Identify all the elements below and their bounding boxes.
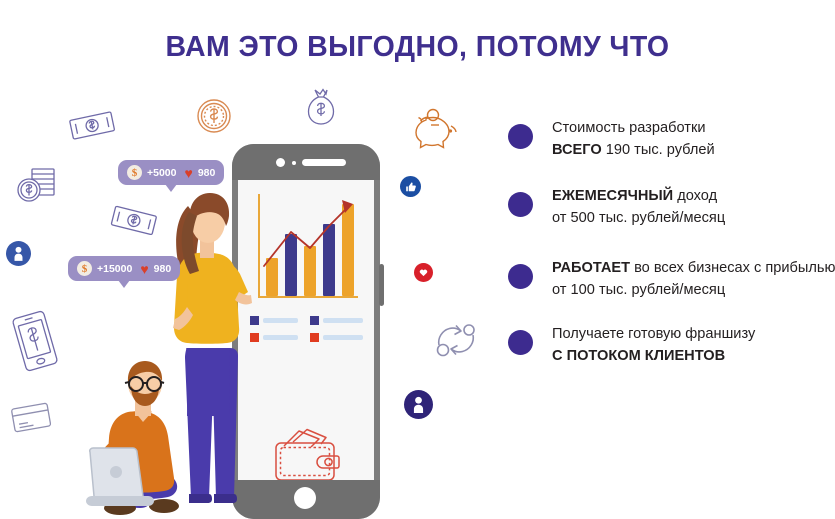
banknote-icon xyxy=(68,110,116,140)
slide-root: ВАМ ЭТО ВЫГОДНО, ПОТОМУ ЧТО xyxy=(0,0,835,467)
phone-dollar-icon xyxy=(10,310,60,372)
exchange-arrows-icon xyxy=(432,318,480,362)
list-placeholder-bar xyxy=(323,335,363,340)
thumbs-up-icon xyxy=(400,176,421,197)
benefit-line: Получаете готовую франшизу xyxy=(552,326,755,342)
notification-likes: 980 xyxy=(198,167,216,179)
heart-icon xyxy=(414,263,433,282)
benefit-text: Стоимость разработки ВСЕГО 190 тыс. рубл… xyxy=(552,118,715,161)
benefit-emphasis: ВСЕГО xyxy=(552,142,602,158)
list-marker xyxy=(310,333,319,342)
benefit-text: РАБОТАЕТ во всех бизнесах с прибылью от … xyxy=(552,258,835,301)
benefit-text: Получаете готовую франшизу С ПОТОКОМ КЛИ… xyxy=(552,324,755,367)
phone-notch xyxy=(232,144,380,180)
page-title: ВАМ ЭТО ВЫГОДНО, ПОТОМУ ЧТО xyxy=(0,31,835,64)
notification-likes: 980 xyxy=(154,263,172,275)
list-placeholder-bar xyxy=(263,335,298,340)
list-item xyxy=(250,333,366,342)
benefit-line: 190 тыс. рублей xyxy=(602,142,715,158)
benefit-emphasis: РАБОТАЕТ xyxy=(552,260,630,276)
benefit-line: Стоимость разработки xyxy=(552,120,705,136)
notification-bubble: $ +5000 ♥ 980 xyxy=(118,160,224,185)
dollar-coin-icon: $ xyxy=(127,165,142,180)
bullet-dot-icon xyxy=(508,330,533,355)
phone-speaker-icon xyxy=(302,159,346,166)
phone-screen xyxy=(238,180,374,480)
bullet-dot-icon xyxy=(508,192,533,217)
banknote-icon xyxy=(110,205,158,235)
man-with-laptop xyxy=(78,360,198,518)
illustration-stage: $ +5000 ♥ 980 $ +15000 ♥ 980 xyxy=(0,70,508,467)
wallet-icon xyxy=(271,426,343,484)
money-bag-icon xyxy=(303,87,339,127)
list-placeholder-bar xyxy=(263,318,298,323)
user-avatar-icon xyxy=(404,390,433,419)
phone-sensor-icon xyxy=(292,161,296,165)
smartphone-mockup xyxy=(232,144,380,519)
heart-icon: ♥ xyxy=(185,166,193,180)
benefit-line: от 500 тыс. рублей/месяц xyxy=(552,210,725,226)
piggy-bank-icon xyxy=(409,106,463,150)
phone-list-rows xyxy=(250,316,366,350)
list-item: Стоимость разработки ВСЕГО 190 тыс. рубл… xyxy=(508,118,715,161)
benefit-line: во всех бизнесах с прибылью xyxy=(630,260,835,276)
heart-icon: ♥ xyxy=(140,262,148,276)
list-item: ЕЖЕМЕСЯЧНЫЙ доход от 500 тыс. рублей/мес… xyxy=(508,186,725,229)
dollar-coin-icon xyxy=(196,98,232,134)
list-item: Получаете готовую франшизу С ПОТОКОМ КЛИ… xyxy=(508,324,755,367)
notification-amount: +5000 xyxy=(147,167,177,179)
benefit-emphasis: ЕЖЕМЕСЯЧНЫЙ xyxy=(552,188,673,204)
user-avatar-icon xyxy=(6,241,31,266)
bubble-tail xyxy=(118,280,130,288)
phone-bottom-bezel xyxy=(232,480,380,519)
growth-bar-chart xyxy=(250,190,362,308)
list-placeholder-bar xyxy=(323,318,363,323)
list-marker xyxy=(310,316,319,325)
benefit-line: от 100 тыс. рублей/месяц xyxy=(552,282,725,298)
phone-home-button xyxy=(294,487,316,509)
list-item: РАБОТАЕТ во всех бизнесах с прибылью от … xyxy=(508,258,835,301)
coins-stack-icon xyxy=(14,165,58,205)
chart-trend-arrow xyxy=(250,190,362,308)
phone-camera-icon xyxy=(276,158,285,167)
phone-side-button xyxy=(379,264,384,306)
notification-bubble: $ +15000 ♥ 980 xyxy=(68,256,180,281)
benefit-line: доход xyxy=(673,188,717,204)
list-item xyxy=(250,316,366,325)
notification-amount: +15000 xyxy=(97,263,132,275)
dollar-coin-icon: $ xyxy=(77,261,92,276)
bubble-tail xyxy=(165,184,177,192)
credit-card-icon xyxy=(10,400,52,434)
benefit-emphasis: С ПОТОКОМ КЛИЕНТОВ xyxy=(552,348,725,364)
benefit-text: ЕЖЕМЕСЯЧНЫЙ доход от 500 тыс. рублей/мес… xyxy=(552,186,725,229)
bullet-dot-icon xyxy=(508,124,533,149)
bullet-dot-icon xyxy=(508,264,533,289)
